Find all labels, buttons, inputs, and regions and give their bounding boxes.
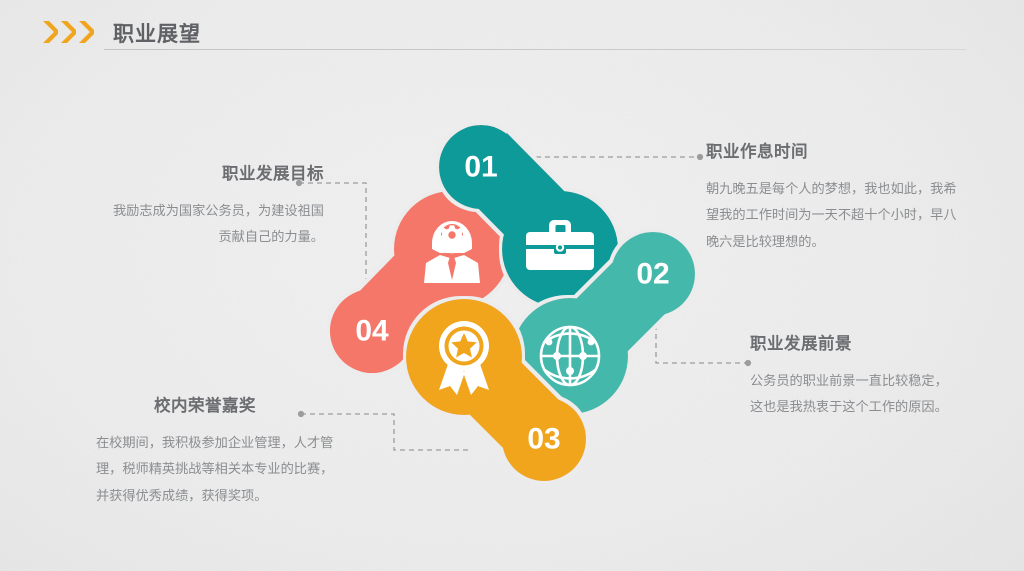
node-02-number: 02 <box>636 258 669 291</box>
info-block-02: 职业发展前景 公务员的职业前景一直比较稳定，这也是我热衷于这个工作的原因。 <box>750 330 965 421</box>
info-block-04: 职业发展目标 我励志成为国家公务员，为建设祖国贡献自己的力量。 <box>108 160 324 251</box>
header-divider <box>104 49 966 50</box>
chevron-right-icon <box>60 20 76 44</box>
info-block-03: 校内荣誉嘉奖 在校期间，我积极参加企业管理，人才管理，税师精英挑战等相关本专业的… <box>96 392 344 509</box>
info-block-01-title: 职业作息时间 <box>706 138 966 162</box>
chevron-right-icon <box>78 20 94 44</box>
header-chevrons <box>42 20 94 44</box>
page-title: 职业展望 <box>113 18 201 48</box>
info-block-04-body: 我励志成为国家公务员，为建设祖国贡献自己的力量。 <box>108 198 324 251</box>
node-01-number: 01 <box>464 151 497 184</box>
info-block-01: 职业作息时间 朝九晚五是每个人的梦想，我也如此，我希望我的工作时间为一天不超十个… <box>706 138 966 255</box>
node-03-number: 03 <box>527 423 560 456</box>
info-block-02-body: 公务员的职业前景一直比较稳定，这也是我热衷于这个工作的原因。 <box>750 368 955 421</box>
info-block-04-title: 职业发展目标 <box>108 160 324 184</box>
info-block-03-title: 校内荣誉嘉奖 <box>96 392 314 416</box>
info-block-02-title: 职业发展前景 <box>750 330 965 354</box>
chevron-right-icon <box>42 20 58 44</box>
slide-header: 职业展望 <box>0 0 1024 60</box>
info-block-03-body: 在校期间，我积极参加企业管理，人才管理，税师精英挑战等相关本专业的比赛，并获得优… <box>96 430 344 509</box>
connector-dot-01 <box>697 154 703 160</box>
globe-network-icon <box>541 327 599 385</box>
slide-background: 职业展望 职业作息时间 朝九晚五是每个人的梦想，我也如此，我希望我的工作时间为一… <box>0 0 1024 571</box>
info-block-01-body: 朝九晚五是每个人的梦想，我也如此，我希望我的工作时间为一天不超十个小时，早八晚六… <box>706 176 958 255</box>
node-04-number: 04 <box>355 315 389 348</box>
